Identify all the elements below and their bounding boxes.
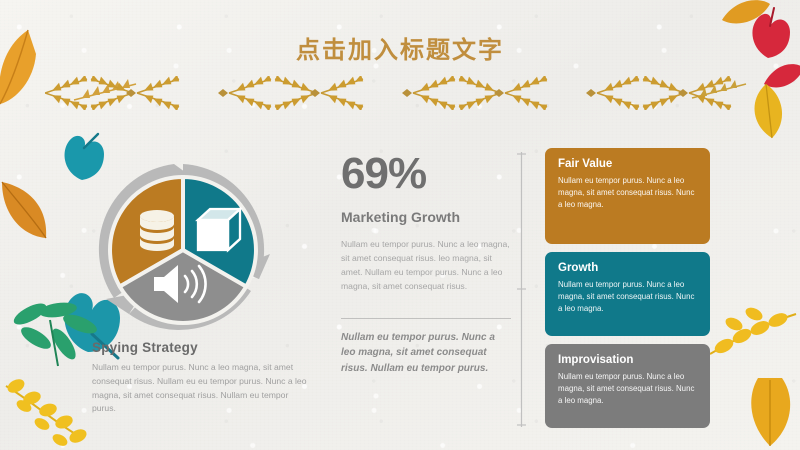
card-title: Growth (558, 262, 697, 274)
card-fair-value[interactable]: Fair Value Nullam eu tempor purus. Nunc … (545, 148, 710, 244)
card-growth[interactable]: Growth Nullam eu tempor purus. Nunc a le… (545, 252, 710, 336)
spying-strategy-heading: Spying Strategy (92, 340, 312, 355)
page-title: 点击加入标题文字 (0, 30, 800, 65)
three-segment-process-wheel[interactable] (88, 158, 278, 343)
card-body: Nullam eu tempor purus. Nunc a leo magna… (558, 371, 697, 407)
card-body: Nullam eu tempor purus. Nunc a leo magna… (558, 175, 697, 211)
card-title: Improvisation (558, 354, 697, 366)
card-improvisation[interactable]: Improvisation Nullam eu tempor purus. Nu… (545, 344, 710, 428)
horizontal-divider (341, 318, 511, 319)
card-body: Nullam eu tempor purus. Nunc a leo magna… (558, 279, 697, 315)
spying-strategy-body: Nullam eu tempor purus. Nunc a leo magna… (92, 361, 312, 416)
marketing-growth-block: 69% Marketing Growth Nullam eu tempor pu… (341, 152, 511, 376)
marketing-growth-quote: Nullam eu tempor purus. Nunc a leo magna… (341, 330, 511, 377)
vertical-divider (517, 152, 526, 427)
marketing-growth-body: Nullam eu tempor purus. Nunc a leo magna… (341, 238, 511, 294)
spying-strategy-block: Spying Strategy Nullam eu tempor purus. … (92, 340, 312, 416)
percent-value: 69% (341, 152, 511, 196)
wheat-vine-divider (45, 76, 755, 110)
card-title: Fair Value (558, 158, 697, 170)
marketing-growth-heading: Marketing Growth (341, 209, 511, 227)
